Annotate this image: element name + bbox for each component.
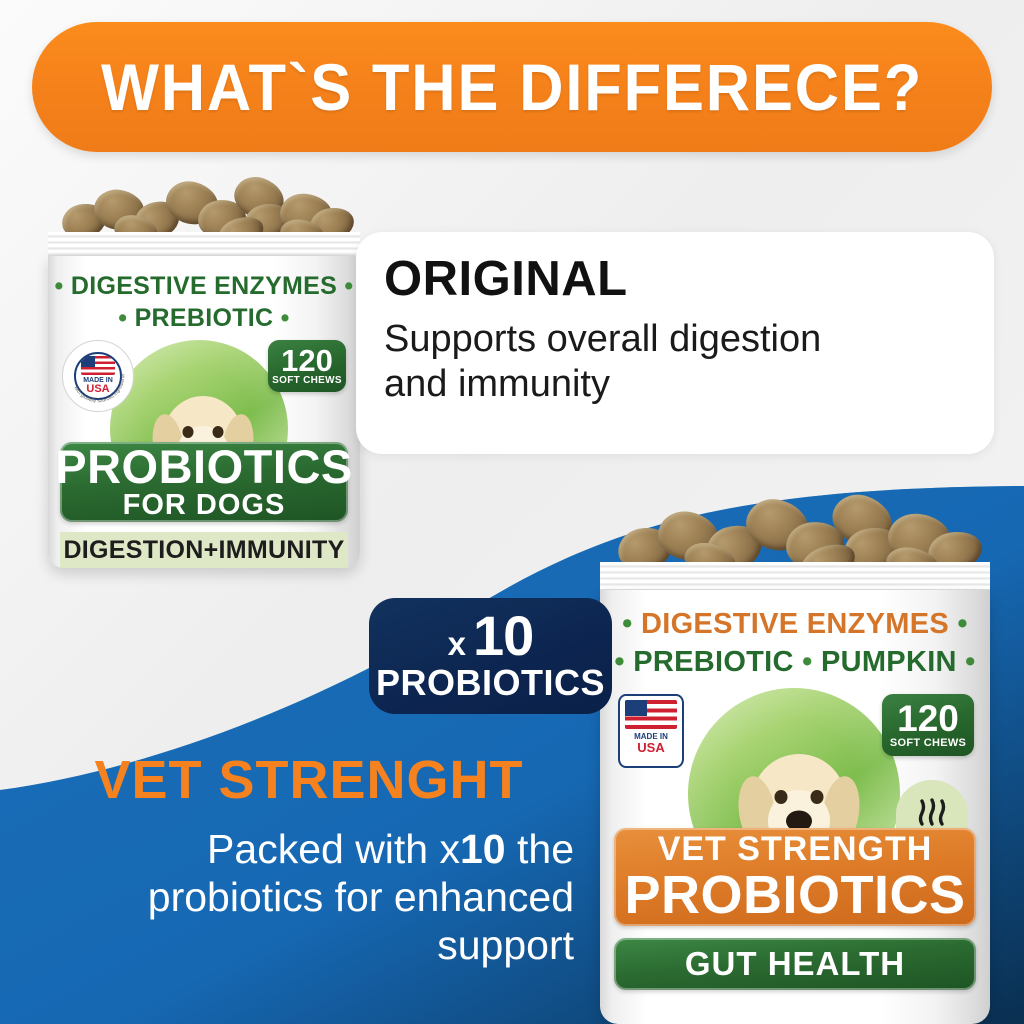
chews-count-badge-original: 120 SOFT CHEWS	[268, 340, 346, 392]
bullet-dot-icon: •	[802, 646, 812, 678]
banner-main-original: PROBIOTICS	[55, 443, 352, 490]
label-header-line2-vet: • PREBIOTIC • PUMPKIN •	[600, 646, 990, 679]
x10-multiplier-prefix: x	[448, 627, 466, 660]
made-in-usa-badge-original: with globally sourced ingredients MADE I…	[62, 340, 134, 412]
chews-count-label-vet: SOFT CHEWS	[890, 737, 966, 749]
bullet-dot-icon: •	[55, 272, 64, 300]
bullet-dot-icon: •	[622, 608, 632, 640]
product-jar-original: • DIGESTIVE ENZYMES • • PREBIOTIC •	[48, 176, 360, 568]
vet-body-bold: 10	[460, 826, 506, 872]
banner-top-vet: VET STRENGTH	[658, 832, 933, 868]
jar-label-original: • DIGESTIVE ENZYMES • • PREBIOTIC •	[48, 256, 360, 568]
label-header-line2-original: • PREBIOTIC •	[48, 304, 360, 333]
original-description: Supports overall digestion and immunity	[384, 317, 964, 405]
page-title: WHAT`S THE DIFFERECE?	[101, 49, 923, 125]
bacon-strips-icon	[915, 797, 949, 831]
product-name-banner-vet: VET STRENGTH PROBIOTICS	[614, 828, 976, 926]
label-header-line1-original: • DIGESTIVE ENZYMES •	[48, 272, 360, 301]
vet-strength-text-block: VET STRENGHT Packed with x10 the probiot…	[44, 752, 574, 970]
usa-label-original: USA	[83, 384, 113, 395]
infographic-canvas: WHAT`S THE DIFFERECE? ORIGINAL Supports …	[0, 0, 1024, 1024]
x10-multiplier-value: 10	[473, 608, 533, 664]
bullet-dot-icon: •	[614, 646, 624, 678]
vet-strength-body: Packed with x10 the probiotics for enhan…	[44, 825, 574, 970]
chews-count-label-original: SOFT CHEWS	[272, 375, 342, 386]
bullet-dot-icon: •	[118, 304, 127, 332]
soft-chews-pile-vet	[600, 492, 990, 570]
jar-rim-vet	[600, 562, 990, 592]
header-banner: WHAT`S THE DIFFERECE?	[32, 22, 992, 152]
chews-count-number-vet: 120	[897, 701, 959, 736]
label-header-line1-vet: • DIGESTIVE ENZYMES •	[600, 608, 990, 641]
chews-count-badge-vet: 120 SOFT CHEWS	[882, 694, 974, 756]
product-name-banner-original: PROBIOTICS FOR DOGS	[60, 442, 348, 522]
x10-label: PROBIOTICS	[376, 662, 605, 704]
banner-sub-original: FOR DOGS	[123, 490, 286, 522]
bullet-dot-icon: •	[957, 608, 967, 640]
x10-probiotics-badge: x 10 PROBIOTICS	[369, 598, 612, 714]
bullet-dot-icon: •	[344, 272, 353, 300]
bullet-dot-icon: •	[281, 304, 290, 332]
usa-label-vet: USA	[634, 741, 668, 754]
product-jar-vet-strength: • DIGESTIVE ENZYMES • • PREBIOTIC • PUMP…	[600, 492, 990, 1024]
jar-label-vet: • DIGESTIVE ENZYMES • • PREBIOTIC • PUMP…	[600, 590, 990, 1024]
benefit-strip-original: DIGESTION+IMMUNITY	[60, 532, 348, 568]
chews-count-number-original: 120	[281, 346, 333, 375]
us-flag-icon	[625, 700, 677, 729]
jar-rim-original	[48, 232, 360, 258]
original-title: ORIGINAL	[384, 254, 964, 305]
banner-main-vet: PROBIOTICS	[624, 868, 965, 922]
original-description-line1: Supports overall digestion	[384, 317, 964, 361]
soft-chews-pile-original	[48, 176, 360, 238]
vet-strength-title: VET STRENGHT	[44, 752, 574, 809]
made-in-usa-badge-vet: MADE IN USA	[618, 694, 684, 768]
us-flag-icon	[81, 356, 116, 375]
bullet-dot-icon: •	[965, 646, 975, 678]
banner-sub-vet: GUT HEALTH	[685, 945, 905, 983]
vet-body-pre: Packed with x	[207, 826, 460, 872]
original-description-line2: and immunity	[384, 362, 964, 406]
original-description-card: ORIGINAL Supports overall digestion and …	[356, 232, 994, 454]
benefit-banner-vet: GUT HEALTH	[614, 938, 976, 990]
